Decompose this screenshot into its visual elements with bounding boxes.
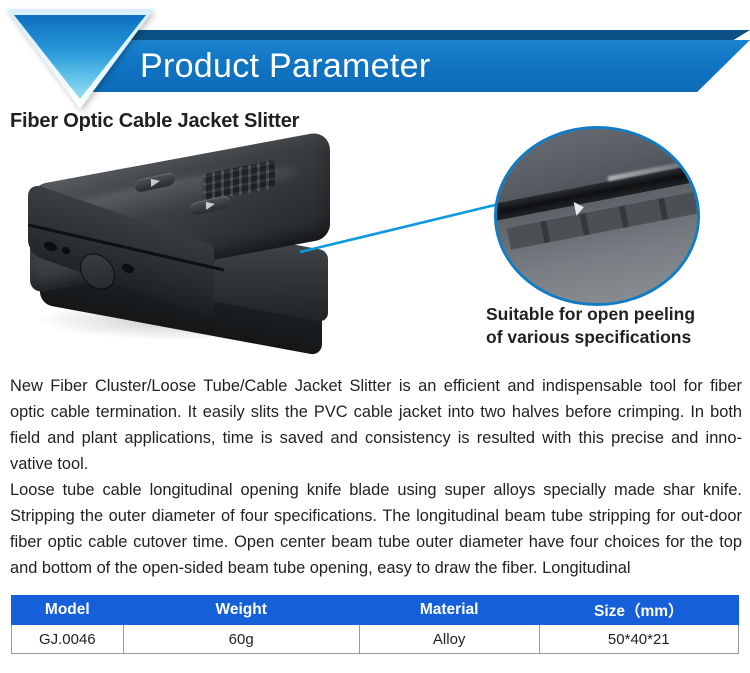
description-paragraph-2: Loose tube cable longitudinal opening kn…	[10, 477, 742, 581]
product-photo	[18, 150, 363, 365]
page-header: Product Parameter	[0, 0, 750, 104]
detail-magnifier-circle	[494, 126, 700, 306]
specification-table: Model Weight Material Size（mm） GJ.0046 6…	[11, 595, 739, 654]
column-header-weight: Weight	[123, 596, 359, 625]
product-subtitle: Fiber Optic Cable Jacket Slitter	[10, 110, 299, 133]
column-header-size: Size（mm）	[539, 596, 738, 625]
table-header-row: Model Weight Material Size（mm）	[12, 596, 739, 625]
triangle-inner	[14, 15, 146, 99]
cell-model: GJ.0046	[12, 625, 124, 654]
detail-caption: Suitable for open peeling of various spe…	[486, 303, 748, 349]
detail-caption-line2: of various specifications	[486, 326, 748, 349]
description-paragraph-1: New Fiber Cluster/Loose Tube/Cable Jacke…	[10, 373, 742, 477]
cell-weight: 60g	[123, 625, 359, 654]
cell-material: Alloy	[359, 625, 539, 654]
cell-size: 50*40*21	[539, 625, 738, 654]
description-body: New Fiber Cluster/Loose Tube/Cable Jacke…	[10, 373, 742, 581]
table-row: GJ.0046 60g Alloy 50*40*21	[12, 625, 739, 654]
page-title: Product Parameter	[140, 40, 430, 92]
column-header-model: Model	[12, 596, 124, 625]
triangle-decoration-icon	[6, 9, 154, 109]
detail-caption-line1: Suitable for open peeling	[486, 303, 748, 326]
column-header-material: Material	[359, 596, 539, 625]
